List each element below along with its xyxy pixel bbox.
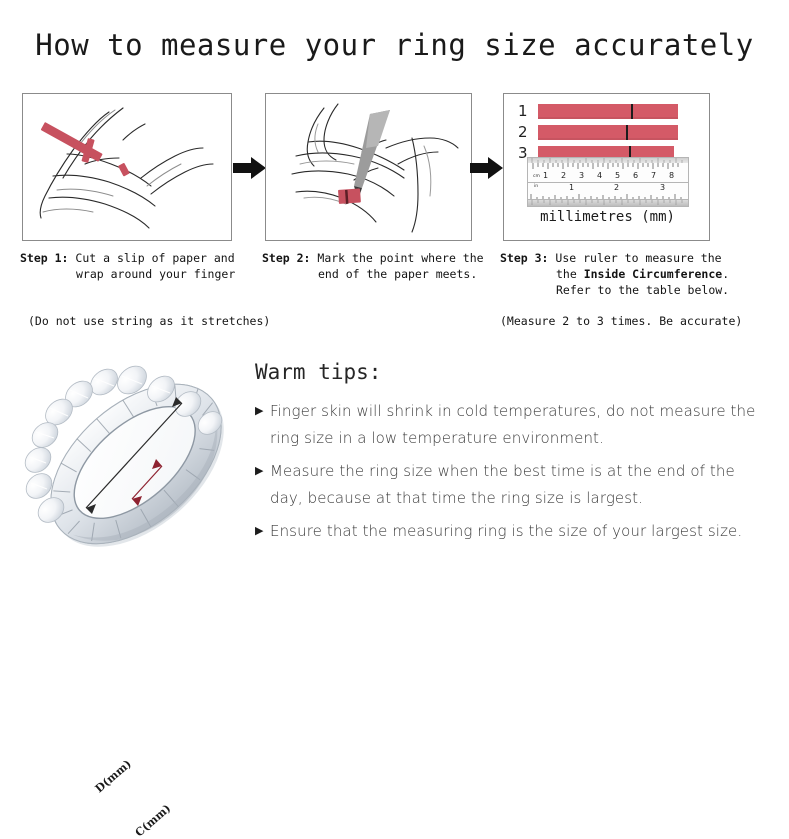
measured-strip-row: 1 xyxy=(518,104,678,119)
tip-item: ▶ Finger skin will shrink in cold temper… xyxy=(255,398,765,452)
strip-mark xyxy=(631,104,633,119)
bullet-triangle-icon: ▶ xyxy=(255,398,270,424)
step-2-illustration-panel xyxy=(265,93,472,241)
arrow-right-icon xyxy=(470,155,504,181)
step-3-line-2: the Inside Circumference. xyxy=(500,266,750,282)
warm-tips-heading: Warm tips: xyxy=(255,360,765,384)
paper-strip-red xyxy=(41,122,130,177)
inside-circumference-emphasis: Inside Circumference xyxy=(584,267,722,281)
step-3-illustration-panel: 1 2 3 xyxy=(503,93,710,241)
ruler-cm-tick: 4 xyxy=(597,172,602,180)
arrow-right-icon xyxy=(233,155,267,181)
ring-diagram: D(mm) C(mm) xyxy=(22,356,250,576)
step-2-line-1: Mark the point where the xyxy=(317,251,483,265)
ruler-cm-tick: 8 xyxy=(669,172,674,180)
strip-number: 1 xyxy=(518,104,534,119)
paper-strip xyxy=(538,125,678,140)
step-3-line-1: Use ruler to measure the xyxy=(555,251,721,265)
tip-item: ▶ Ensure that the measuring ring is the … xyxy=(255,518,765,545)
ring-size-guide-page: How to measure your ring size accurately xyxy=(0,0,789,606)
bullet-triangle-icon: ▶ xyxy=(255,458,270,484)
step-3-note: (Measure 2 to 3 times. Be accurate) xyxy=(500,314,742,328)
strip-number: 2 xyxy=(518,125,534,140)
hand-with-paper-strip-illustration xyxy=(23,94,231,240)
diameter-label: D(mm) xyxy=(93,757,134,795)
tip-item: ▶ Measure the ring size when the best ti… xyxy=(255,458,765,512)
step-3-line-2-pre: the xyxy=(556,267,584,281)
paper-strip xyxy=(538,104,678,119)
tip-text: Measure the ring size when the best time… xyxy=(270,458,765,512)
tip-text: Ensure that the measuring ring is the si… xyxy=(270,518,742,545)
ruler-bottom-edge xyxy=(527,200,689,207)
measured-strip-row: 2 xyxy=(518,125,678,140)
step-1-line-2: wrap around your finger xyxy=(20,266,260,282)
ruler-cm-unit: cm xyxy=(533,175,540,180)
bullet-triangle-icon: ▶ xyxy=(255,518,270,544)
step-3-line-2-post: . xyxy=(722,267,729,281)
step-1-illustration-panel xyxy=(22,93,232,241)
tip-text: Finger skin will shrink in cold temperat… xyxy=(270,398,765,452)
ruler-cm-tick: 2 xyxy=(561,172,566,180)
paper-strip-mark-red xyxy=(338,188,361,204)
step-2-label: Step 2: xyxy=(262,251,310,265)
ruler-cm-tick: 6 xyxy=(633,172,638,180)
ruler: cm 1 2 3 4 5 6 7 8 in 1 2 3 xyxy=(527,157,689,207)
ruler-cm-tick: 5 xyxy=(615,172,620,180)
step-1-label: Step 1: xyxy=(20,251,68,265)
ruler-cm-face: cm 1 2 3 4 5 6 7 8 xyxy=(527,163,689,183)
ruler-inch-unit: in xyxy=(534,185,538,190)
circumference-label: C(mm) xyxy=(133,802,174,839)
ruler-cm-tick: 3 xyxy=(579,172,584,180)
millimetres-caption: millimetres (mm) xyxy=(504,209,710,225)
step-2-line-2: end of the paper meets. xyxy=(262,266,502,282)
step-2-caption: Step 2: Mark the point where the end of … xyxy=(262,250,502,282)
ruler-inch-face: in 1 2 3 xyxy=(527,183,689,200)
hand-marking-with-pen-illustration xyxy=(266,94,471,240)
step-3-line-3: Refer to the table below. xyxy=(500,282,750,298)
strip-mark xyxy=(626,125,628,140)
warm-tips-section: Warm tips: ▶ Finger skin will shrink in … xyxy=(255,360,765,551)
ruler-cm-tick: 7 xyxy=(651,172,656,180)
ruler-cm-tick: 1 xyxy=(543,172,548,180)
step-3-caption: Step 3: Use ruler to measure the the Ins… xyxy=(500,250,750,298)
step-3-label: Step 3: xyxy=(500,251,548,265)
pen-icon xyxy=(354,110,390,200)
eternity-ring-illustration xyxy=(22,356,250,576)
step-1-note: (Do not use string as it stretches) xyxy=(28,314,270,328)
page-title: How to measure your ring size accurately xyxy=(0,28,789,62)
step-1-line-1: Cut a slip of paper and xyxy=(75,251,234,265)
step-1-caption: Step 1: Cut a slip of paper and wrap aro… xyxy=(20,250,260,282)
